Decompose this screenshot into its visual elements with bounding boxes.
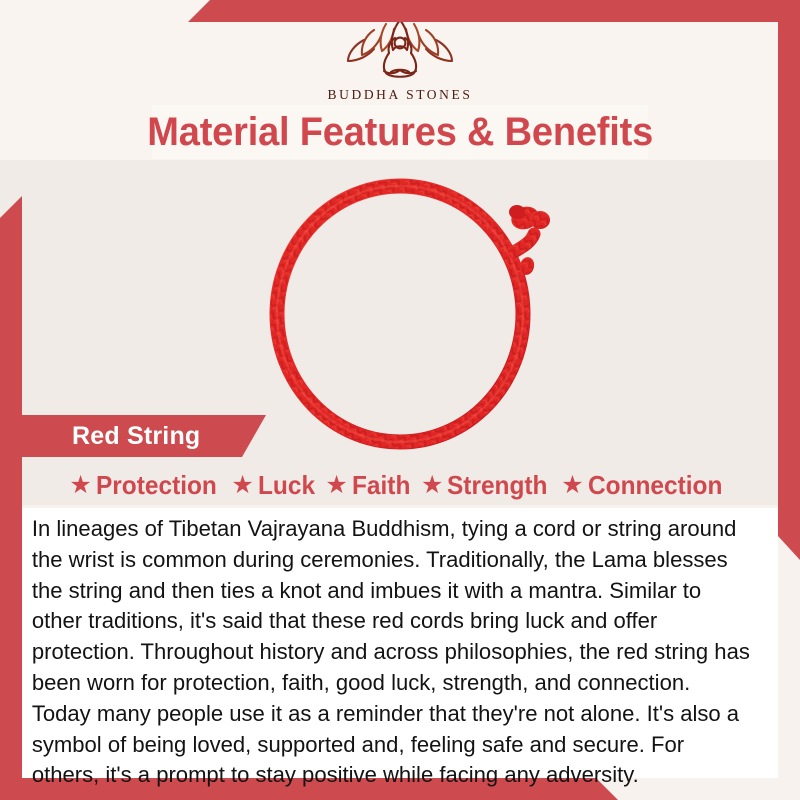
benefit-item-luck: ★ Luck [231, 470, 318, 501]
benefit-label: Faith [352, 470, 410, 501]
benefit-label: Protection [96, 470, 217, 501]
benefit-label: Strength [447, 470, 547, 501]
benefits-list: ★ Protection ★ Luck ★ Faith ★ Strength ★… [0, 463, 800, 507]
benefit-item-faith: ★ Faith [325, 470, 414, 501]
page-title: Material Features & Benefits [147, 110, 653, 155]
brand-logo: BUDDHA STONES [0, 14, 800, 103]
star-icon: ★ [561, 473, 583, 498]
material-features-infographic: BUDDHA STONES Material Features & Benefi… [0, 0, 800, 800]
product-name-label: Red String [72, 422, 200, 451]
benefit-item-protection: ★ Protection [69, 470, 224, 501]
description-panel: In lineages of Tibetan Vajrayana Buddhis… [22, 508, 778, 778]
star-icon: ★ [69, 473, 91, 498]
benefit-item-strength: ★ Strength [421, 470, 554, 501]
star-icon: ★ [231, 473, 253, 498]
brand-wordmark: BUDDHA STONES [328, 87, 473, 103]
star-icon: ★ [421, 473, 443, 498]
benefit-item-connection: ★ Connection [561, 470, 730, 501]
product-name-banner: Red String [14, 415, 266, 457]
red-string-bracelet-image [228, 168, 576, 450]
page-title-box: Material Features & Benefits [152, 105, 648, 159]
benefit-label: Connection [588, 470, 722, 501]
star-icon: ★ [325, 473, 347, 498]
benefit-label: Luck [258, 470, 315, 501]
lotus-meditation-logo-icon [334, 14, 466, 84]
description-text: In lineages of Tibetan Vajrayana Buddhis… [22, 514, 767, 791]
